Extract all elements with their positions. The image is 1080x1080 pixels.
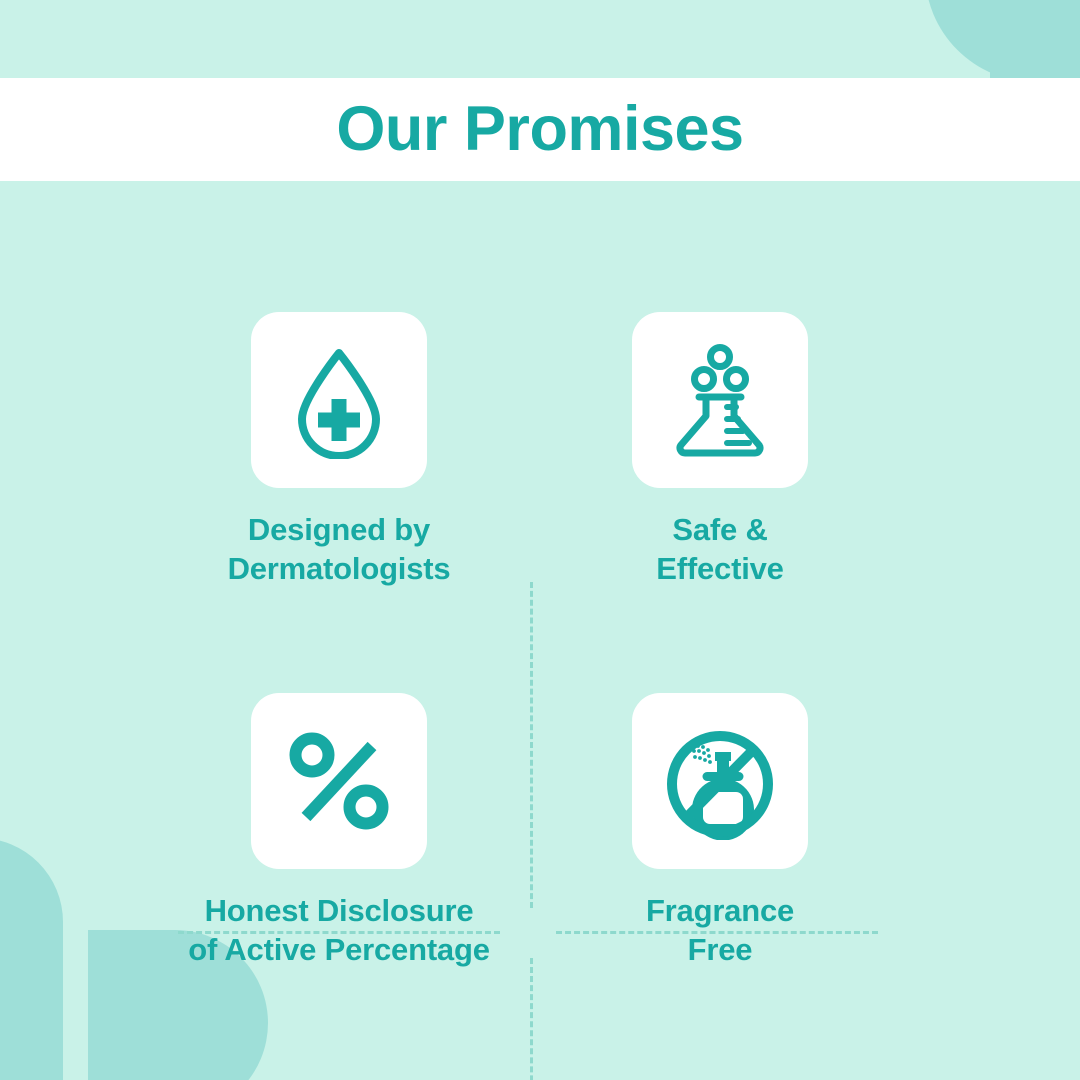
promise-grid: Designed by Dermatologists [0, 290, 1080, 1010]
water-drop-plus-icon [280, 341, 398, 459]
promise-item-safe-and-effective: Safe & Effective [530, 312, 910, 589]
icon-card [251, 312, 427, 488]
percent-icon [280, 722, 398, 840]
icon-card [632, 693, 808, 869]
promise-item-honest-disclosure: Honest Disclosure of Active Percentage [149, 693, 529, 970]
promise-item-designed-by-dermatologists: Designed by Dermatologists [149, 312, 529, 589]
no-perfume-icon [661, 722, 779, 840]
top-right-square-decoration [990, 55, 1080, 79]
promise-label: Safe & Effective [656, 510, 783, 589]
icon-card [632, 312, 808, 488]
lab-flask-icon [661, 341, 779, 459]
page-title: Our Promises [336, 98, 743, 161]
promise-item-fragrance-free: Fragrance Free [530, 693, 910, 970]
promise-label: Fragrance Free [646, 891, 794, 970]
promise-label: Designed by Dermatologists [228, 510, 451, 589]
promise-label: Honest Disclosure of Active Percentage [188, 891, 490, 970]
divider-vertical-bottom [530, 958, 533, 1080]
icon-card [251, 693, 427, 869]
header-band: Our Promises [0, 78, 1080, 181]
promises-infographic: Our Promises Designed by Dermatologists [0, 0, 1080, 1080]
